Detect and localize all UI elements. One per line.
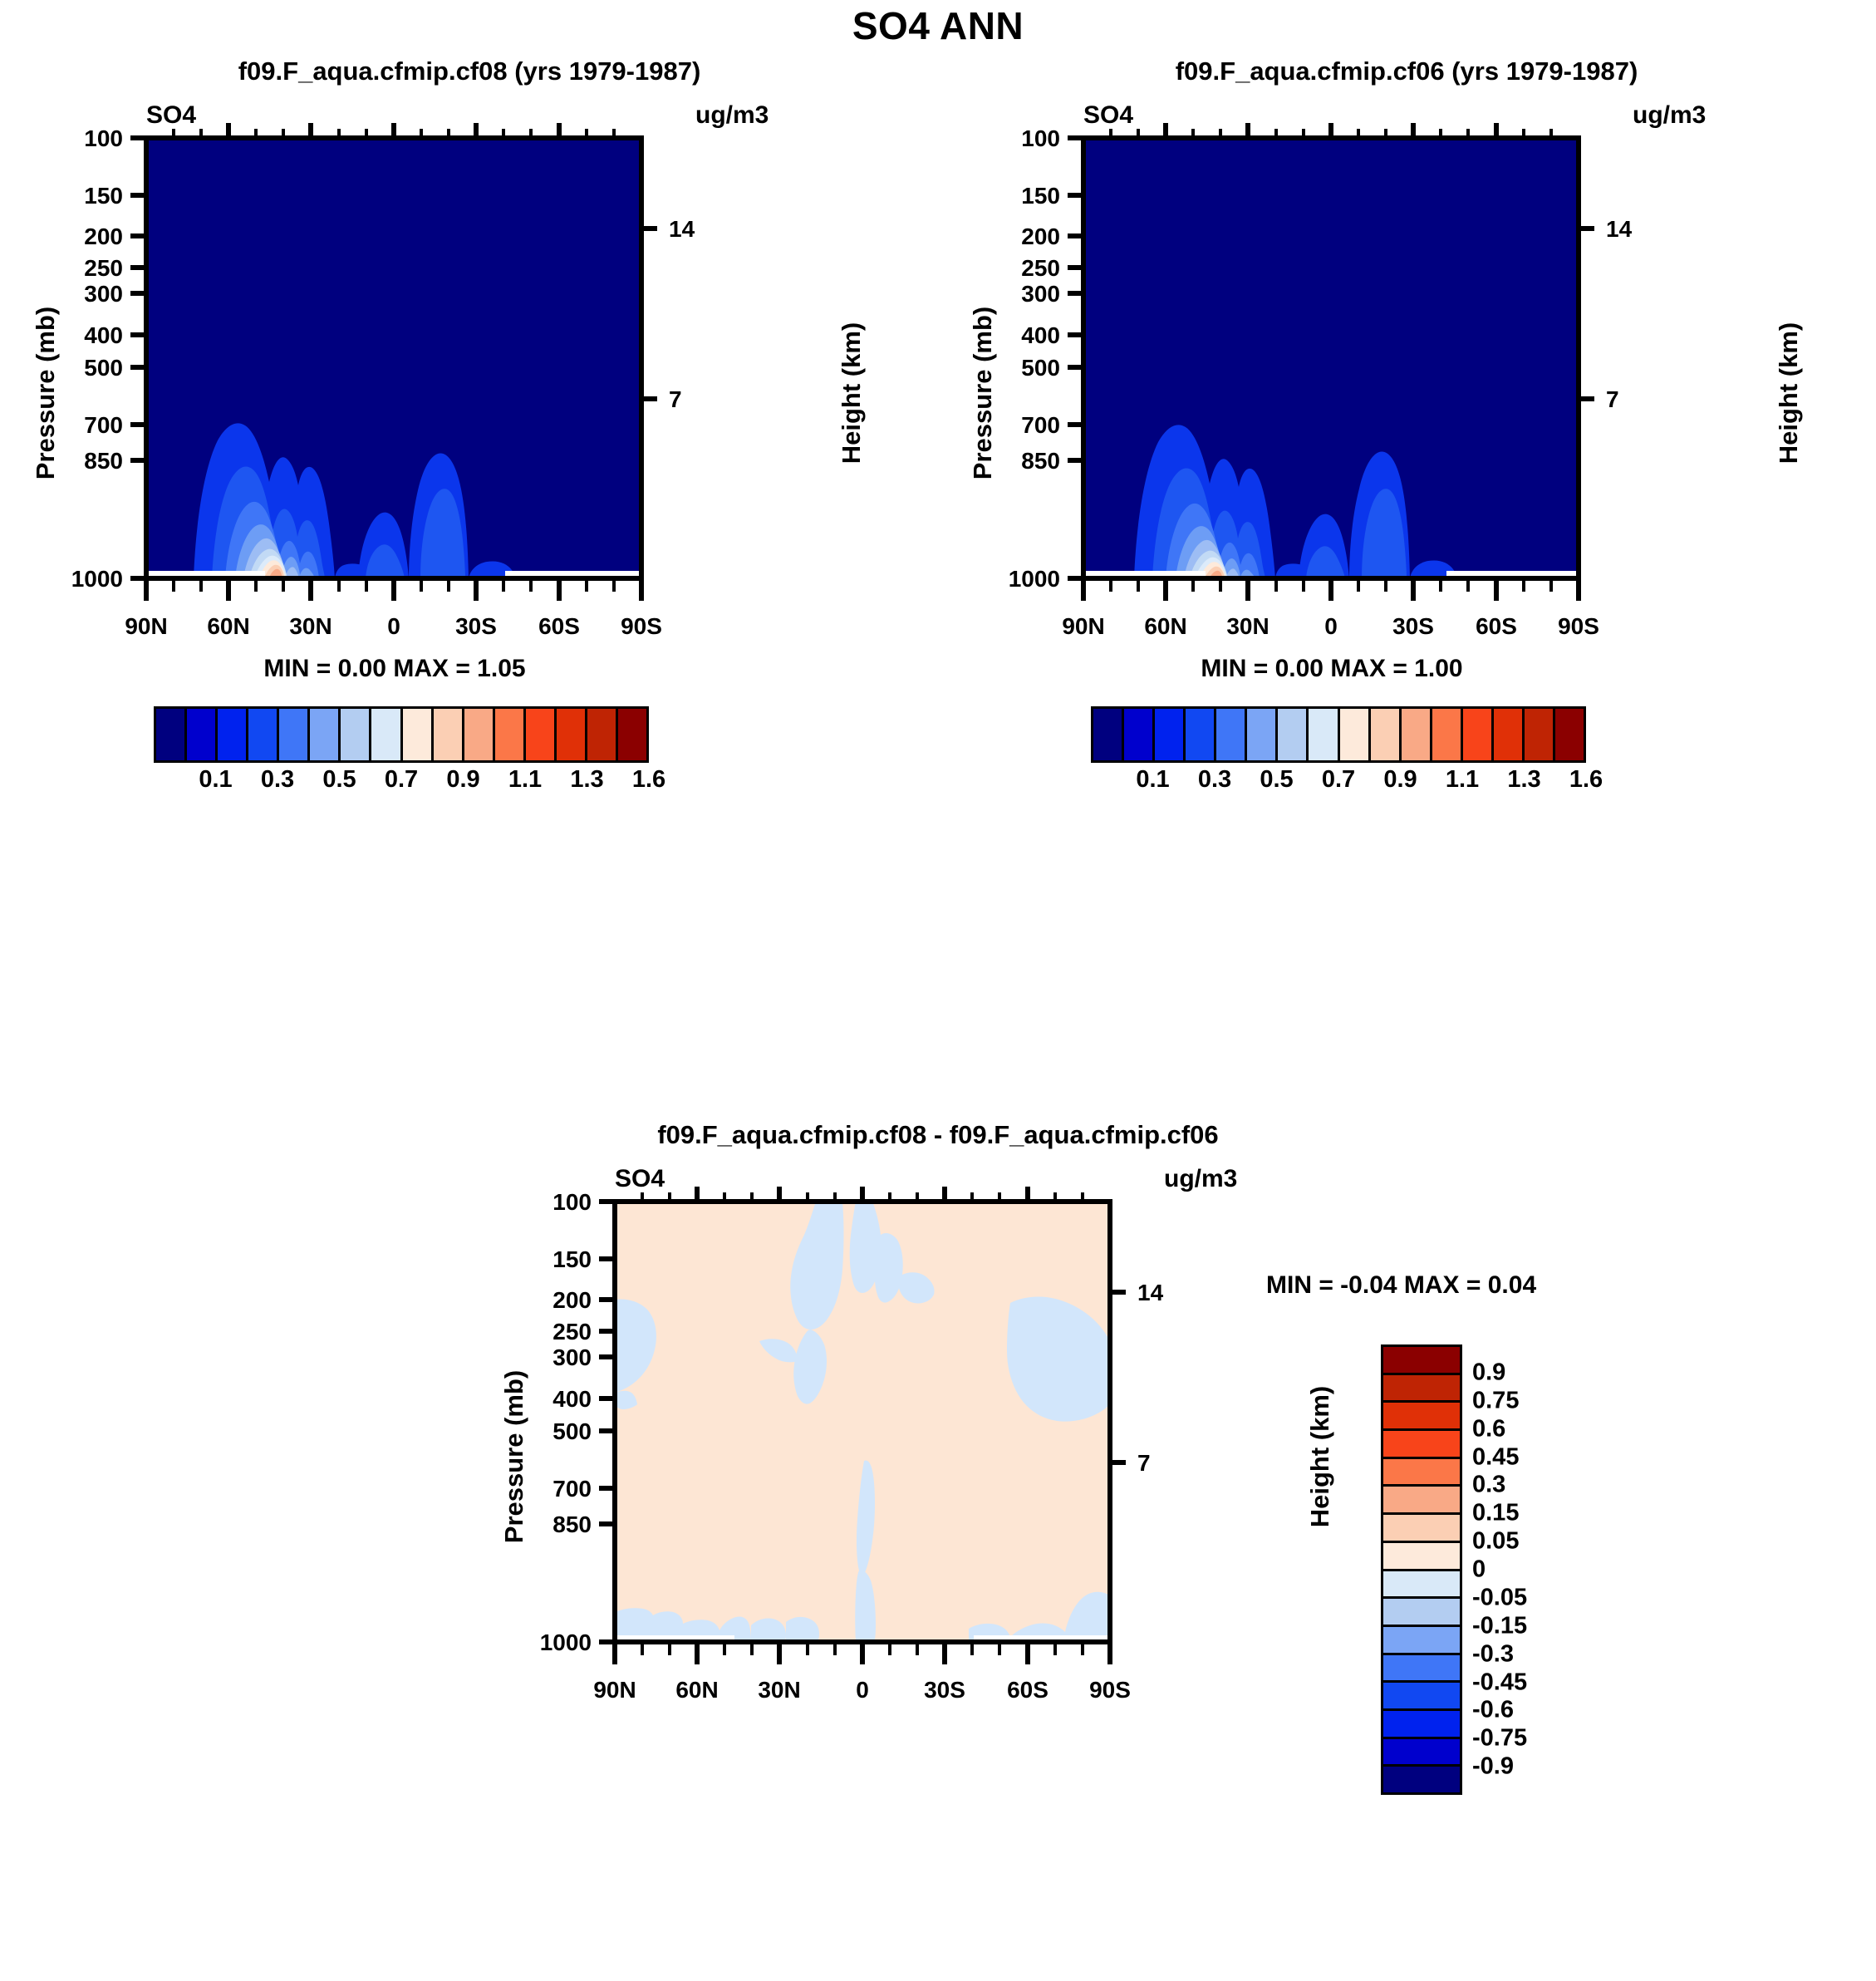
colorbar-cell bbox=[1383, 1571, 1460, 1600]
colorbar-cell bbox=[1383, 1767, 1460, 1792]
colorbar-cell bbox=[1371, 709, 1402, 760]
y-tick-label: 300 bbox=[518, 1344, 592, 1371]
colorbar-cell bbox=[1186, 709, 1216, 760]
x-tick-label: 0 bbox=[821, 1677, 904, 1703]
colorbar-cell bbox=[248, 709, 279, 760]
colorbar-tick-label: 0.5 bbox=[1260, 766, 1293, 794]
panel-top-left: f09.F_aqua.cfmip.cf08 (yrs 1979-1987) SO… bbox=[0, 50, 939, 981]
colorbar-cell bbox=[371, 709, 402, 760]
colorbar-cell bbox=[1383, 1739, 1460, 1767]
x-ticks-bottom-top-left bbox=[146, 578, 641, 601]
colorbar-cell bbox=[587, 709, 618, 760]
x-tick-label: 30S bbox=[903, 1677, 986, 1703]
y-tick-label: 200 bbox=[987, 224, 1060, 250]
y-tick-label: 700 bbox=[987, 412, 1060, 439]
y-tick-label: 200 bbox=[50, 224, 123, 250]
minmax-text-top-right: MIN = 0.00 MAX = 1.00 bbox=[937, 655, 1726, 683]
colorbar-cell bbox=[1383, 1543, 1460, 1571]
y2-tick-label: 7 bbox=[1137, 1450, 1151, 1477]
colorbar-cell bbox=[1383, 1599, 1460, 1627]
colorbar-tick-label: 1.1 bbox=[1446, 766, 1479, 794]
colorbar-cell bbox=[1402, 709, 1432, 760]
y-tick-label: 200 bbox=[518, 1287, 592, 1314]
y-tick-label: 850 bbox=[50, 448, 123, 474]
plot-svg-top-left bbox=[0, 50, 939, 981]
colorbar-tick-label: 0.05 bbox=[1472, 1528, 1519, 1556]
colorbar-cell bbox=[1383, 1487, 1460, 1515]
colorbar-cell bbox=[1555, 709, 1584, 760]
colorbar-cell bbox=[495, 709, 526, 760]
y-tick-label: 500 bbox=[50, 355, 123, 381]
y-tick-label: 150 bbox=[987, 183, 1060, 209]
colorbar-cell bbox=[464, 709, 495, 760]
x-ticks-bottom-top-right bbox=[1083, 578, 1579, 601]
colorbar-tick-label: 1.6 bbox=[632, 766, 665, 794]
y-tick-label: 1000 bbox=[510, 1630, 592, 1656]
colorbar-tick-label: 1.1 bbox=[508, 766, 542, 794]
colorbar-labels-top-left: 0.10.30.50.70.91.11.31.6 bbox=[154, 766, 649, 799]
x-tick-label: 90N bbox=[105, 613, 188, 640]
contour-field-top-right bbox=[1083, 138, 1579, 578]
panel-difference: f09.F_aqua.cfmip.cf08 - f09.F_aqua.cfmip… bbox=[469, 1113, 1407, 1978]
colorbar-cell bbox=[1309, 709, 1339, 760]
x-tick-label: 60N bbox=[656, 1677, 739, 1703]
plot-svg-top-right bbox=[937, 50, 1876, 981]
colorbar-tick-label: -0.45 bbox=[1472, 1669, 1527, 1696]
y-tick-label: 1000 bbox=[42, 566, 123, 592]
y-tick-label: 150 bbox=[518, 1246, 592, 1273]
colorbar-tick-label: 0.15 bbox=[1472, 1500, 1519, 1527]
colorbar-cell bbox=[1383, 1711, 1460, 1739]
x-tick-label: 30S bbox=[1372, 613, 1455, 640]
y-tick-label: 500 bbox=[518, 1418, 592, 1445]
colorbar-labels-difference: 0.90.750.60.450.30.150.050-0.05-0.15-0.3… bbox=[1472, 1344, 1638, 1795]
colorbar-cell bbox=[557, 709, 587, 760]
x-tick-label: 60S bbox=[986, 1677, 1069, 1703]
colorbar-cell bbox=[341, 709, 371, 760]
colorbar-tick-label: 0.7 bbox=[1322, 766, 1355, 794]
x-tick-label: 30N bbox=[1206, 613, 1289, 640]
colorbar-tick-label: -0.75 bbox=[1472, 1725, 1527, 1752]
colorbar-cell bbox=[1278, 709, 1309, 760]
x-tick-label: 60N bbox=[1124, 613, 1207, 640]
y-tick-label: 850 bbox=[518, 1512, 592, 1538]
colorbar-cell bbox=[1383, 1431, 1460, 1459]
colorbar-cell bbox=[1093, 709, 1124, 760]
colorbar-tick-label: -0.05 bbox=[1472, 1584, 1527, 1611]
y-tick-label: 250 bbox=[518, 1319, 592, 1345]
colorbar-cell bbox=[1383, 1655, 1460, 1684]
x-tick-label: 90N bbox=[573, 1677, 656, 1703]
colorbar-cell bbox=[156, 709, 187, 760]
colorbar-cell bbox=[1383, 1347, 1460, 1375]
x-tick-label: 90S bbox=[1068, 1677, 1152, 1703]
colorbar-cell bbox=[1383, 1683, 1460, 1711]
x-tick-label: 0 bbox=[352, 613, 435, 640]
x-tick-label: 90N bbox=[1042, 613, 1125, 640]
y2-tick-label: 7 bbox=[1606, 386, 1619, 413]
y-tick-label: 100 bbox=[518, 1189, 592, 1216]
minmax-text-difference: MIN = -0.04 MAX = 0.04 bbox=[1266, 1271, 1536, 1300]
colorbar-cell bbox=[526, 709, 557, 760]
colorbar-tick-label: 0.3 bbox=[1198, 766, 1231, 794]
colorbar-cell bbox=[218, 709, 248, 760]
colorbar-difference bbox=[1381, 1344, 1462, 1795]
y-tick-label: 400 bbox=[50, 322, 123, 349]
x-tick-label: 30S bbox=[435, 613, 518, 640]
x-ticks-bottom-difference bbox=[615, 1642, 1110, 1664]
y-tick-label: 300 bbox=[987, 281, 1060, 307]
colorbar-tick-label: 0.5 bbox=[322, 766, 356, 794]
colorbar-top-left bbox=[154, 706, 649, 763]
colorbar-tick-label: 0.75 bbox=[1472, 1387, 1519, 1414]
colorbar-cell bbox=[618, 709, 646, 760]
page-title: SO4 ANN bbox=[0, 3, 1876, 48]
colorbar-cell bbox=[1155, 709, 1186, 760]
colorbar-cell bbox=[1525, 709, 1555, 760]
x-tick-label: 90S bbox=[1537, 613, 1620, 640]
colorbar-tick-label: -0.6 bbox=[1472, 1697, 1514, 1724]
colorbar-cell bbox=[279, 709, 310, 760]
colorbar-cell bbox=[434, 709, 464, 760]
x-tick-label: 90S bbox=[600, 613, 683, 640]
colorbar-cell bbox=[1383, 1403, 1460, 1431]
y-tick-label: 100 bbox=[50, 125, 123, 152]
colorbar-tick-label: 0.9 bbox=[1383, 766, 1417, 794]
plot-svg-difference bbox=[469, 1113, 1407, 1978]
colorbar-cell bbox=[1383, 1459, 1460, 1487]
colorbar-labels-top-right: 0.10.30.50.70.91.11.31.6 bbox=[1091, 766, 1586, 799]
colorbar-cell bbox=[1494, 709, 1525, 760]
colorbar-tick-label: 0.3 bbox=[261, 766, 294, 794]
colorbar-tick-label: 0.3 bbox=[1472, 1472, 1505, 1499]
y2-tick-label: 14 bbox=[669, 216, 695, 243]
colorbar-tick-label: -0.3 bbox=[1472, 1640, 1514, 1668]
colorbar-cell bbox=[1432, 709, 1463, 760]
y-tick-label: 250 bbox=[987, 255, 1060, 282]
colorbar-cell bbox=[1124, 709, 1155, 760]
colorbar-tick-label: 1.6 bbox=[1569, 766, 1603, 794]
figure-root: SO4 ANN f09.F_aqua.cfmip.cf08 (yrs 1979-… bbox=[0, 0, 1876, 1981]
colorbar-cell bbox=[187, 709, 218, 760]
y-tick-label: 500 bbox=[987, 355, 1060, 381]
colorbar-tick-label: 0.1 bbox=[199, 766, 232, 794]
y2-tick-label: 14 bbox=[1606, 216, 1632, 243]
contour-field-difference bbox=[615, 1202, 1110, 1642]
y-tick-label: 100 bbox=[987, 125, 1060, 152]
colorbar-cell bbox=[1247, 709, 1278, 760]
y-tick-label: 700 bbox=[50, 412, 123, 439]
y-tick-label: 850 bbox=[987, 448, 1060, 474]
x-tick-label: 30N bbox=[738, 1677, 821, 1703]
colorbar-tick-label: 0.45 bbox=[1472, 1443, 1519, 1471]
x-tick-label: 30N bbox=[269, 613, 352, 640]
minmax-text-top-left: MIN = 0.00 MAX = 1.05 bbox=[0, 655, 789, 683]
colorbar-cell bbox=[1383, 1627, 1460, 1655]
colorbar-cell bbox=[1340, 709, 1371, 760]
colorbar-tick-label: 0.7 bbox=[385, 766, 418, 794]
x-tick-label: 60S bbox=[518, 613, 601, 640]
colorbar-cell bbox=[1216, 709, 1247, 760]
colorbar-tick-label: 0 bbox=[1472, 1556, 1486, 1584]
colorbar-tick-label: 0.9 bbox=[1472, 1359, 1505, 1386]
colorbar-top-right bbox=[1091, 706, 1586, 763]
colorbar-tick-label: 1.3 bbox=[570, 766, 603, 794]
colorbar-cell bbox=[1383, 1375, 1460, 1403]
y-tick-label: 700 bbox=[518, 1476, 592, 1502]
colorbar-tick-label: 0.9 bbox=[446, 766, 479, 794]
x-tick-label: 60N bbox=[187, 613, 270, 640]
x-tick-label: 60S bbox=[1455, 613, 1538, 640]
colorbar-tick-label: 1.3 bbox=[1507, 766, 1540, 794]
colorbar-cell bbox=[1463, 709, 1494, 760]
x-tick-label: 0 bbox=[1289, 613, 1373, 640]
y-tick-label: 1000 bbox=[979, 566, 1060, 592]
y-tick-label: 400 bbox=[518, 1386, 592, 1413]
colorbar-tick-label: 0.6 bbox=[1472, 1415, 1505, 1443]
y2-tick-label: 14 bbox=[1137, 1280, 1163, 1306]
colorbar-tick-label: -0.9 bbox=[1472, 1753, 1514, 1781]
colorbar-cell bbox=[403, 709, 434, 760]
y-tick-label: 250 bbox=[50, 255, 123, 282]
contour-field-top-left bbox=[146, 138, 641, 578]
panel-top-right: f09.F_aqua.cfmip.cf06 (yrs 1979-1987) SO… bbox=[937, 50, 1876, 981]
colorbar-cell bbox=[310, 709, 341, 760]
y-tick-label: 400 bbox=[987, 322, 1060, 349]
y-tick-label: 300 bbox=[50, 281, 123, 307]
y-tick-label: 150 bbox=[50, 183, 123, 209]
y2-tick-label: 7 bbox=[669, 386, 682, 413]
colorbar-tick-label: -0.15 bbox=[1472, 1612, 1527, 1639]
colorbar-cell bbox=[1383, 1515, 1460, 1543]
colorbar-tick-label: 0.1 bbox=[1136, 766, 1169, 794]
